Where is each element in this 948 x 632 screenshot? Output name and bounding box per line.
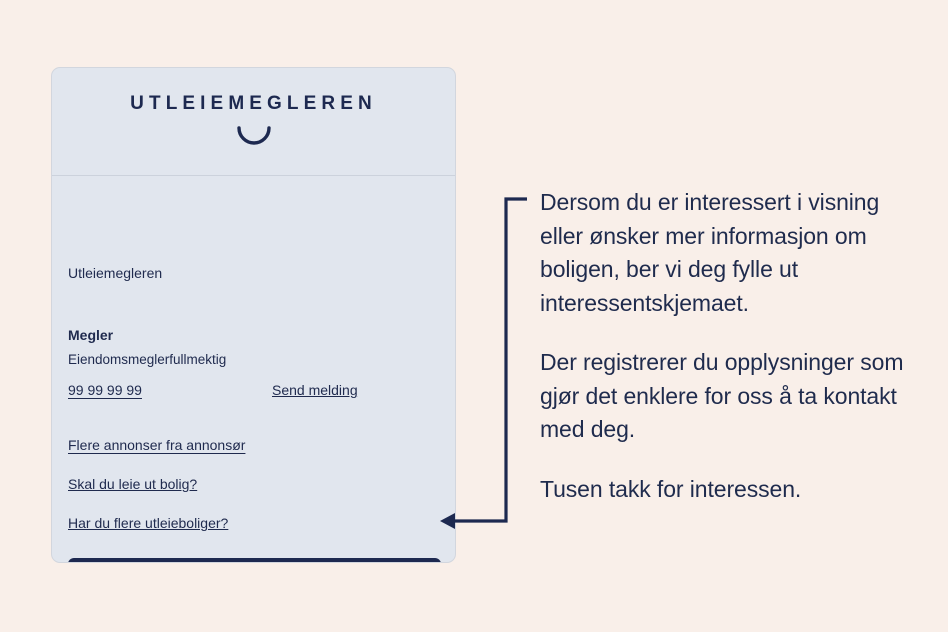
broker-contact-card: UTLEIEMEGLEREN Utleiemegleren Megler Eie… — [51, 67, 456, 563]
rent-out-home-link[interactable]: Skal du leie ut bolig? — [68, 477, 197, 491]
annotation-text-block: Dersom du er interessert i visning eller… — [540, 186, 920, 506]
agent-role-label: Megler — [68, 328, 113, 342]
company-name: Utleiemegleren — [68, 266, 162, 280]
agent-phone-link[interactable]: 99 99 99 99 — [68, 383, 142, 397]
annotation-paragraph-1: Dersom du er interessert i visning eller… — [540, 186, 920, 320]
utleiemegleren-logo-wordmark: UTLEIEMEGLEREN — [130, 94, 377, 113]
card-header: UTLEIEMEGLEREN — [52, 68, 455, 176]
more-ads-from-advertiser-link[interactable]: Flere annonser fra annonsør — [68, 438, 245, 452]
send-message-link[interactable]: Send melding — [272, 383, 358, 397]
multiple-rentals-link[interactable]: Har du flere utleieboliger? — [68, 516, 228, 530]
smile-arc-icon — [237, 126, 271, 146]
annotation-connector-arrow — [430, 185, 540, 540]
card-body: Utleiemegleren Megler Eiendomsmeglerfull… — [52, 176, 455, 562]
agent-job-title: Eiendomsmeglerfullmektig — [68, 353, 226, 367]
annotation-paragraph-2: Der registrerer du opplysninger som gjør… — [540, 346, 920, 447]
screenshot-stage: UTLEIEMEGLEREN Utleiemegleren Megler Eie… — [0, 0, 948, 632]
interessentskjema-button[interactable]: Interessentskjema — [68, 558, 441, 563]
annotation-paragraph-3: Tusen takk for interessen. — [540, 473, 920, 507]
